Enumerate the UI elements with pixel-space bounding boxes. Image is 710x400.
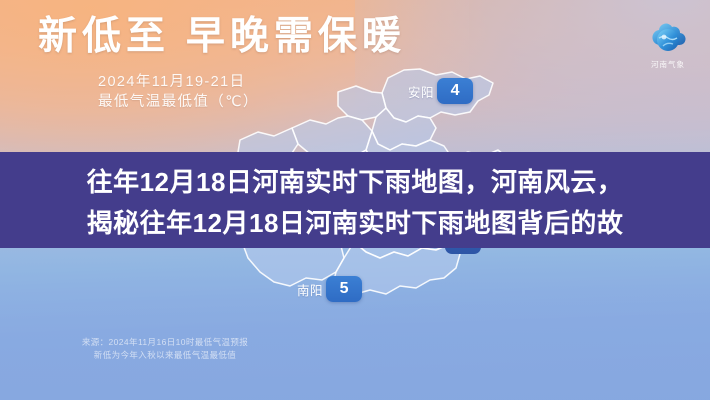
cloud-globe-icon [638, 18, 698, 58]
city-marker-nanyang: 南阳 5 [297, 276, 362, 302]
subtitle-metric: 最低气温最低值（℃） [98, 90, 259, 111]
source-note: 来源：2024年11月16日10时最低气温预报 新低为今年入秋以来最低气温最低值 [72, 336, 258, 362]
city-marker-anyang: 安阳 4 [408, 78, 473, 104]
subtitle-date: 2024年11月19-21日 [98, 70, 246, 91]
source-line-1: 来源：2024年11月16日10时最低气温预报 [72, 336, 258, 349]
page-title: 新低至 早晚需保暖 [38, 14, 406, 59]
source-line-2: 新低为今年入秋以来最低气温最低值 [72, 349, 258, 362]
logo-label: 河南气象 [638, 59, 698, 70]
caption-line-2: 揭秘往年12月18日河南实时下雨地图背后的故 [0, 203, 710, 240]
city-name: 南阳 [297, 280, 323, 299]
caption-overlay-band: 往年12月18日河南实时下雨地图，河南风云， 揭秘往年12月18日河南实时下雨地… [0, 152, 710, 248]
city-name: 安阳 [408, 82, 434, 101]
caption-line-1: 往年12月18日河南实时下雨地图，河南风云， [0, 162, 710, 199]
henan-weather-logo: 河南气象 [638, 18, 698, 74]
weather-poster-image: 新低至 早晚需保暖 2024年11月19-21日 最低气温最低值（℃） [0, 0, 710, 400]
temperature-badge: 5 [326, 276, 362, 302]
temperature-badge: 4 [437, 78, 473, 104]
